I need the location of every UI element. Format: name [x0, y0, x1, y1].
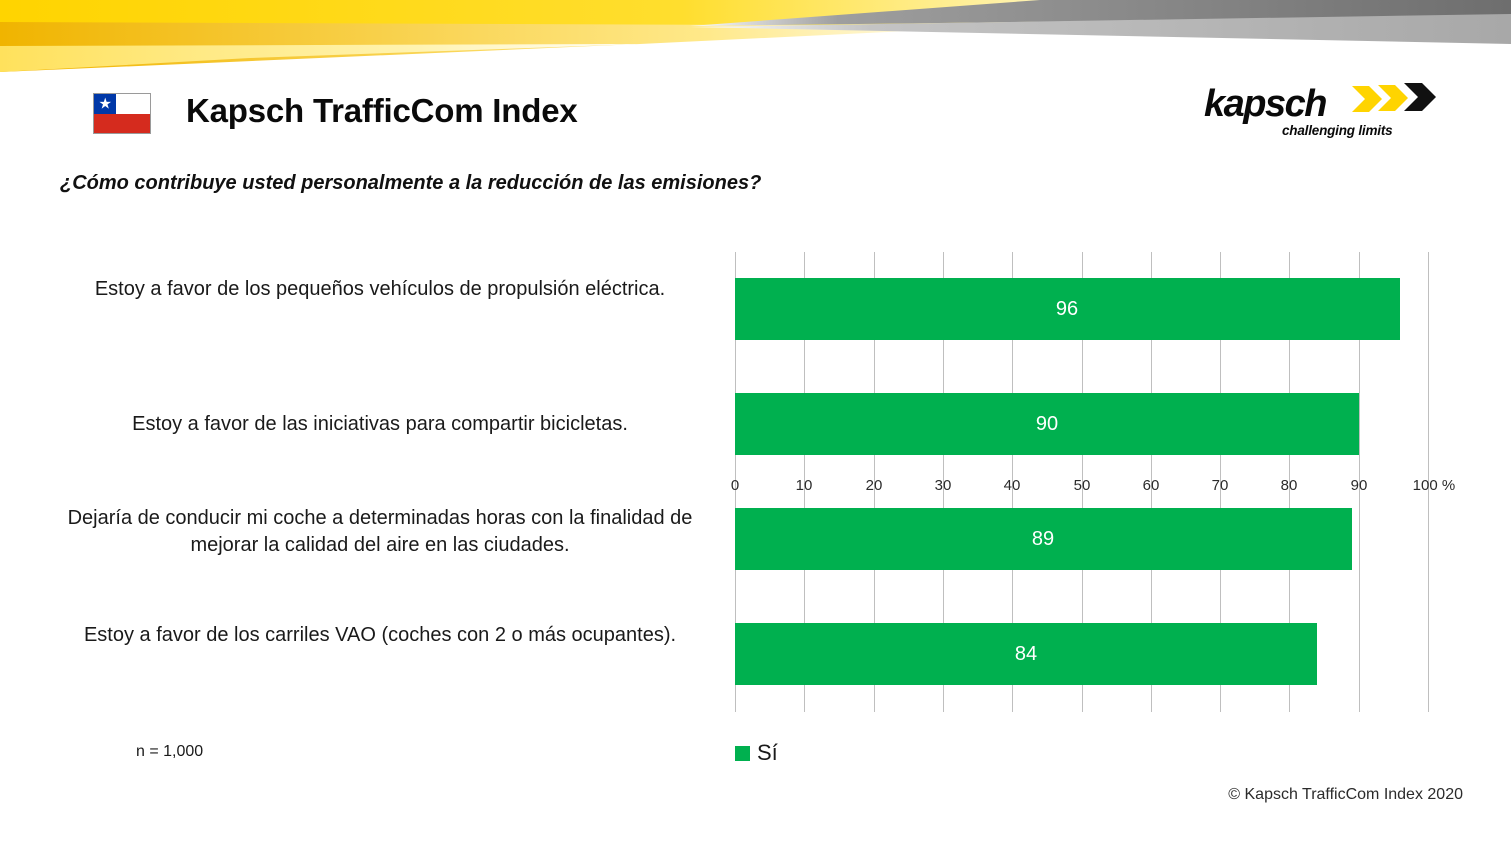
axis-tick-30: 30 — [935, 477, 952, 494]
bar-value-2: 90 — [1036, 393, 1058, 455]
axis-tick-100: 100 % — [1413, 477, 1456, 494]
axis-tick-80: 80 — [1281, 477, 1298, 494]
legend-label-si: Sí — [757, 742, 778, 764]
bar-value-1: 96 — [1056, 278, 1078, 340]
axis-tick-90: 90 — [1351, 477, 1368, 494]
bar-value-4: 84 — [1015, 623, 1037, 685]
axis-tick-10: 10 — [796, 477, 813, 494]
plot-area: 0 10 20 30 40 50 60 70 80 90 100 % 96 90… — [735, 252, 1428, 712]
category-label-4: Estoy a favor de los carriles VAO (coche… — [40, 622, 720, 649]
axis-tick-50: 50 — [1074, 477, 1091, 494]
sample-size-label: n = 1,000 — [136, 743, 203, 761]
category-label-3: Dejaría de conducir mi coche a determina… — [40, 505, 720, 559]
copyright-notice: © Kapsch TrafficCom Index 2020 — [1228, 786, 1463, 804]
axis-tick-20: 20 — [866, 477, 883, 494]
category-label-2: Estoy a favor de las iniciativas para co… — [40, 411, 720, 438]
horizontal-bar-chart: Estoy a favor de los pequeños vehículos … — [0, 0, 1511, 850]
axis-tick-70: 70 — [1212, 477, 1229, 494]
category-label-1: Estoy a favor de los pequeños vehículos … — [40, 276, 720, 303]
axis-tick-0: 0 — [731, 477, 739, 494]
axis-tick-60: 60 — [1143, 477, 1160, 494]
axis-tick-40: 40 — [1004, 477, 1021, 494]
legend-swatch-si — [735, 746, 750, 761]
bar-value-3: 89 — [1032, 508, 1054, 570]
chart-legend: Sí — [735, 742, 778, 764]
